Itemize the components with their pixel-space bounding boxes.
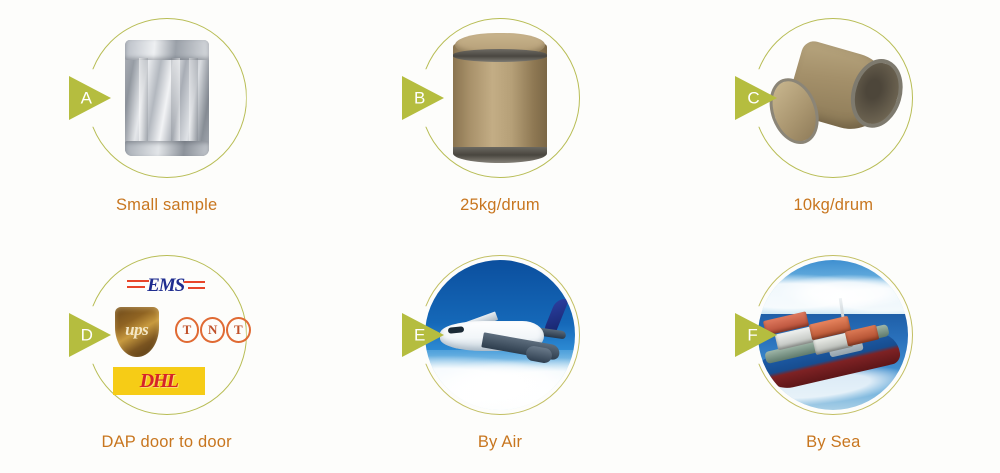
item-cell-e: E By Air: [333, 237, 666, 473]
foil-pouch-icon: [87, 18, 247, 178]
item-stage-b: B: [400, 12, 600, 184]
marker-letter-d: D: [81, 327, 94, 344]
item-caption-a: Small sample: [0, 196, 333, 215]
packaging-shipping-grid: A Small sample B 25kg/drum: [0, 0, 1000, 473]
tnt-logo: T N T: [175, 317, 251, 345]
marker-letter-f: F: [747, 327, 758, 344]
marker-letter-a: A: [81, 90, 93, 107]
courier-logos-group: EMS ups T N T DHL: [87, 255, 247, 415]
item-stage-c: C: [733, 12, 933, 184]
marker-letter-e: E: [414, 327, 426, 344]
item-caption-f: By Sea: [667, 433, 1000, 452]
marker-letter-b: B: [414, 90, 426, 107]
item-stage-a: A: [67, 12, 267, 184]
item-stage-e: E: [400, 249, 600, 421]
item-caption-c: 10kg/drum: [667, 196, 1000, 215]
item-cell-c: C 10kg/drum: [667, 0, 1000, 237]
item-stage-f: F: [733, 249, 933, 421]
tnt-letter-1: T: [175, 317, 200, 343]
container-ship-photo: [758, 260, 908, 410]
item-stage-d: EMS ups T N T DHL: [67, 249, 267, 421]
dhl-logo: DHL: [113, 367, 205, 395]
item-cell-f: F By Sea: [667, 237, 1000, 473]
item-caption-e: By Air: [333, 433, 666, 452]
marker-letter-c: C: [747, 90, 760, 107]
item-cell-b: B 25kg/drum: [333, 0, 666, 237]
item-caption-d: DAP door to door: [0, 433, 333, 452]
ems-logo-text: EMS: [147, 275, 184, 297]
open-drum-icon: [753, 18, 913, 178]
item-cell-a: A Small sample: [0, 0, 333, 237]
ups-logo-text: ups: [125, 320, 148, 340]
tnt-letter-3: T: [226, 317, 251, 343]
ups-logo: ups: [115, 307, 159, 357]
airplane-icon: [434, 301, 566, 373]
item-caption-b: 25kg/drum: [333, 196, 666, 215]
dhl-logo-text: DHL: [140, 370, 178, 393]
fiber-drum-icon: [420, 18, 580, 178]
tnt-letter-2: N: [200, 317, 225, 343]
ems-logo: EMS: [127, 275, 205, 297]
airplane-photo: [425, 260, 575, 410]
item-cell-d: EMS ups T N T DHL: [0, 237, 333, 473]
